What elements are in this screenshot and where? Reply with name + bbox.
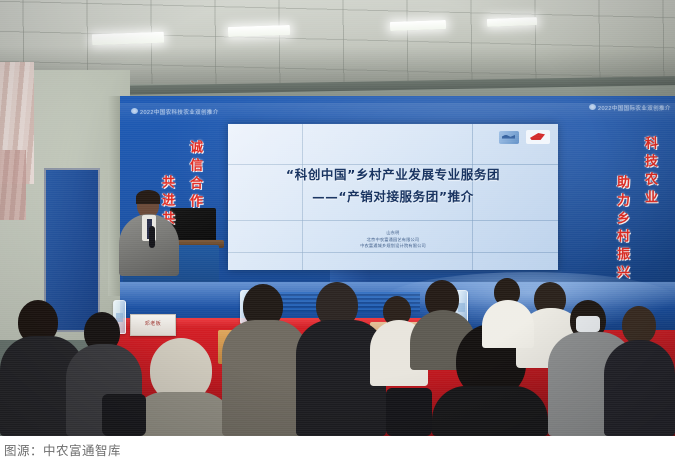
chair-back	[386, 388, 432, 436]
ft-brand-logo-icon	[526, 130, 550, 144]
vertical-banner-right-col1: 科技农业	[640, 136, 659, 208]
face-mask	[576, 316, 600, 332]
table-name-card: 邓老板	[130, 314, 176, 336]
audience-head	[622, 306, 656, 344]
caption-bar: 图源：中农富通智库	[0, 436, 675, 460]
image-root: 2022中国农科技农业双创推介 2022中国国际农业双创推介 诚信合作 共进共赢…	[0, 0, 675, 460]
slide-org-line-2: 中农富通城乡规划设计院有限公司	[228, 243, 558, 250]
table-name-card-text: 邓老板	[131, 320, 175, 327]
audience-body	[432, 386, 548, 436]
slide-presenter-block: 山东明 北京中农富通园艺有限公司 中农富通城乡规划设计院有限公司	[228, 230, 558, 250]
event-logo-mark	[589, 104, 596, 110]
presenter-hair	[136, 190, 160, 204]
image-source-label: 图源：中农富通智库	[4, 440, 121, 459]
window-curtain	[0, 150, 26, 220]
vertical-banner-left-col1: 诚信合作	[185, 140, 204, 212]
slide-logo-group	[499, 130, 550, 144]
audience-body	[482, 300, 534, 348]
projection-screen: “科创中国”乡村产业发展专业服务团 ——“产销对接服务团”推介 山东明 北京中农…	[228, 124, 558, 270]
agri-science-logo-icon	[499, 131, 519, 144]
event-banner-text-left: 2022中国农科技农业双创推介	[140, 108, 219, 116]
slide-title: “科创中国”乡村产业发展专业服务团	[228, 164, 558, 183]
conference-photo: 2022中国农科技农业双创推介 2022中国国际农业双创推介 诚信合作 共进共赢…	[0, 0, 675, 436]
slide-subtitle: ——“产销对接服务团”推介	[228, 186, 558, 205]
audience-body	[604, 340, 675, 436]
event-banner-text-right: 2022中国国际农业双创推介	[598, 104, 671, 112]
chair-back	[102, 394, 146, 436]
vertical-banner-right-col2: 助力乡村振兴	[612, 175, 631, 283]
event-logo-mark	[131, 108, 138, 114]
microphone	[149, 226, 155, 248]
